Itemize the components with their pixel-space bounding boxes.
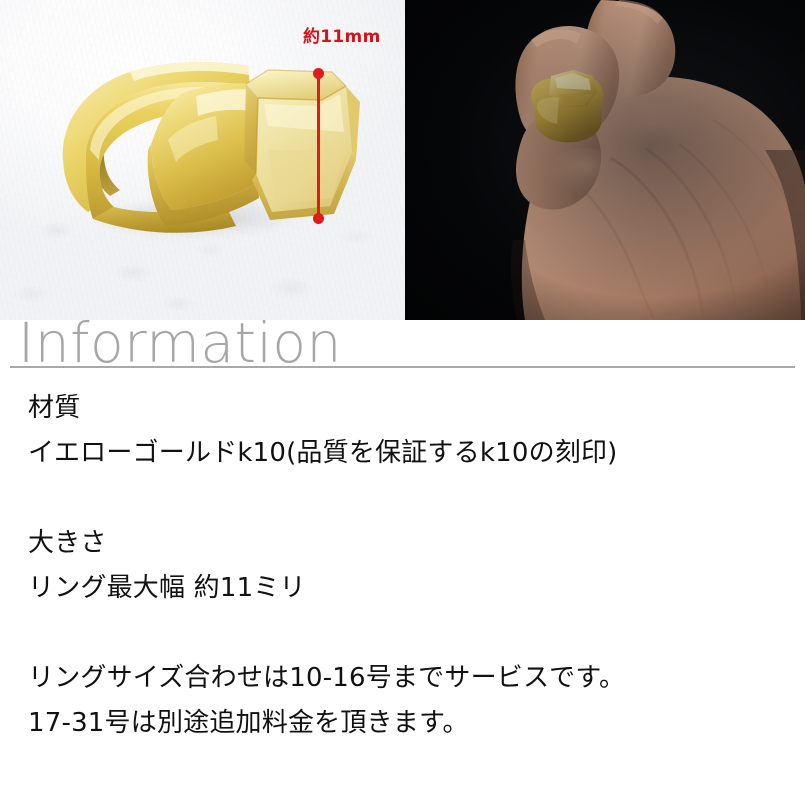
- info-line-material-label: 材質: [28, 386, 788, 431]
- title-divider: [10, 366, 795, 368]
- hand-model-photo[interactable]: [405, 0, 805, 320]
- info-line-size-label: 大きさ: [28, 521, 788, 566]
- ring-illustration: [0, 0, 405, 320]
- ring-product-photo[interactable]: 約11mm: [0, 0, 405, 320]
- product-detail-page: 約11mm: [0, 0, 805, 805]
- info-line-sizing-service: リングサイズ合わせは10-16号までサービスです。: [28, 656, 788, 701]
- information-body: 材質 イエローゴールドk10(品質を保証するk10の刻印) 大きさ リング最大幅…: [28, 386, 788, 746]
- info-line-material-value: イエローゴールドk10(品質を保証するk10の刻印): [28, 431, 788, 476]
- info-spacer-1: [28, 476, 788, 521]
- info-line-size-value: リング最大幅 約11ミリ: [28, 566, 788, 611]
- product-photo-strip: 約11mm: [0, 0, 805, 320]
- info-spacer-2: [28, 611, 788, 656]
- information-header: Information: [0, 320, 805, 370]
- info-line-sizing-extra-fee: 17-31号は別途追加料金を頂きます。: [28, 701, 788, 746]
- hand-photo-vignette: [405, 0, 805, 320]
- page-title: Information: [18, 316, 342, 371]
- ring-svg: [0, 0, 405, 320]
